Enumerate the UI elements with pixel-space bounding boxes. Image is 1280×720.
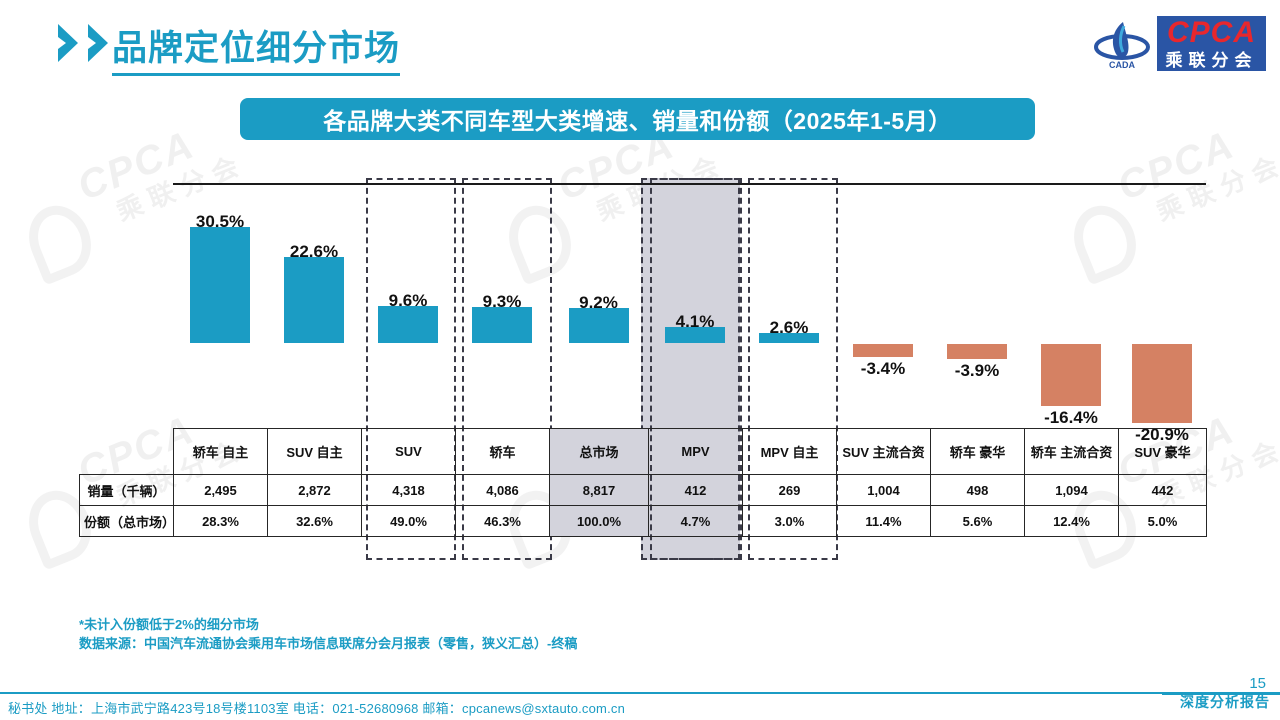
bar-negative[interactable]	[853, 344, 913, 357]
bar-slot: -16.4%	[1024, 160, 1118, 430]
bar-positive[interactable]	[284, 257, 344, 343]
footnote-line-1: *未计入份额低于2%的细分市场	[79, 615, 577, 634]
table-cell: 4.7%	[649, 506, 743, 537]
table-cell: 1,004	[837, 475, 931, 506]
table-cell: 442	[1119, 475, 1207, 506]
bar-slot: 9.2%	[549, 160, 648, 430]
chevron-right-icon	[86, 22, 114, 64]
bar-slot: 30.5%	[173, 160, 267, 430]
table-cell: 1,094	[1025, 475, 1119, 506]
bar-slot: 22.6%	[267, 160, 361, 430]
bar-positive[interactable]	[569, 308, 629, 343]
table-cell: 4,086	[456, 475, 550, 506]
table-cell: 5.0%	[1119, 506, 1207, 537]
table-header-row: 轿车 自主 SUV 自主 SUV 轿车 总市场 MPV MPV 自主 SUV 主…	[80, 429, 1207, 475]
bar-value-label: 22.6%	[290, 242, 338, 262]
table-row: 份额（总市场） 28.3% 32.6% 49.0% 46.3% 100.0% 4…	[80, 506, 1207, 537]
footnotes: *未计入份额低于2%的细分市场 数据来源：中国汽车流通协会乘用车市场信息联席分会…	[79, 615, 577, 653]
table-cell: 3.0%	[743, 506, 837, 537]
cpca-brand-text: CPCA	[1157, 16, 1266, 50]
bar-slot: 9.6%	[361, 160, 455, 430]
footer-contact-info: 秘书处 地址：上海市武宁路423号18号楼1103室 电话：021-526809…	[8, 698, 625, 717]
zero-axis-line	[173, 183, 1206, 185]
table-col-header: 轿车 主流合资	[1025, 429, 1119, 475]
double-chevron-right-icon	[56, 22, 114, 64]
bar-negative[interactable]	[1041, 344, 1101, 406]
chart-title-banner: 各品牌大类不同车型大类增速、销量和份额（2025年1-5月）	[240, 98, 1035, 140]
table-col-header: MPV	[649, 429, 743, 475]
table-cell: 498	[931, 475, 1025, 506]
report-label: 深度分析报告	[1180, 692, 1270, 712]
bar-slot: -3.9%	[930, 160, 1024, 430]
table-col-header: 轿车	[456, 429, 550, 475]
table-col-header: 轿车 豪华	[931, 429, 1025, 475]
table-col-header: 轿车 自主	[174, 429, 268, 475]
table-row-label: 销量（千辆）	[80, 475, 174, 506]
bar-slot: 9.3%	[455, 160, 549, 430]
bar-slot: -20.9%	[1118, 160, 1206, 430]
cpca-logo-text: CPCA 乘联分会	[1157, 16, 1266, 71]
bar-chart: 30.5% 22.6% 9.6% 9.3% 9.2%	[0, 160, 1280, 430]
table-cell: 49.0%	[362, 506, 456, 537]
table-cell: 46.3%	[456, 506, 550, 537]
chevron-right-icon	[56, 22, 84, 64]
table-row-label: 份额（总市场）	[80, 506, 174, 537]
table-cell: 100.0%	[550, 506, 649, 537]
table-cell: 11.4%	[837, 506, 931, 537]
footer-report-label-group: 深度分析报告	[1180, 692, 1270, 712]
table-cell: 32.6%	[268, 506, 362, 537]
bar-value-label: -16.4%	[1044, 408, 1098, 428]
cpca-brand-subtext: 乘联分会	[1157, 50, 1266, 71]
table-corner-cell	[80, 429, 174, 475]
table-cell: 2,495	[174, 475, 268, 506]
table-col-header: MPV 自主	[743, 429, 837, 475]
bar-positive[interactable]	[378, 306, 438, 343]
page-number: 15	[1249, 675, 1266, 692]
table-col-header: SUV 豪华	[1119, 429, 1207, 475]
page-title: 品牌定位细分市场	[112, 20, 400, 76]
bar-positive[interactable]	[190, 227, 250, 343]
bar-value-label: -3.9%	[955, 361, 999, 381]
slide-root: CPCA 乘联分会 CPCA 乘联分会 CPCA 乘联分会 CPCA 乘联分会 …	[0, 0, 1280, 720]
bar-positive[interactable]	[472, 307, 532, 343]
table-col-header: SUV 自主	[268, 429, 362, 475]
bar-value-label: 9.6%	[389, 291, 428, 311]
data-table: 轿车 自主 SUV 自主 SUV 轿车 总市场 MPV MPV 自主 SUV 主…	[79, 428, 1207, 537]
table-cell: 5.6%	[931, 506, 1025, 537]
bar-slot: -3.4%	[836, 160, 930, 430]
bar-slot: 2.6%	[742, 160, 836, 430]
footer-divider	[0, 692, 1280, 694]
bar-slot: 4.1%	[648, 160, 742, 430]
bar-series: 30.5% 22.6% 9.6% 9.3% 9.2%	[173, 160, 1206, 430]
table-cell: 4,318	[362, 475, 456, 506]
cpca-logo: CADA CPCA 乘联分会	[1093, 14, 1266, 72]
table-cell: 412	[649, 475, 743, 506]
bar-value-label: -3.4%	[861, 359, 905, 379]
svg-text:CADA: CADA	[1109, 60, 1135, 70]
table-cell: 28.3%	[174, 506, 268, 537]
footnote-line-2: 数据来源：中国汽车流通协会乘用车市场信息联席分会月报表（零售，狭义汇总）-终稿	[79, 634, 577, 653]
table-col-header: SUV	[362, 429, 456, 475]
table-cell: 8,817	[550, 475, 649, 506]
table-cell: 12.4%	[1025, 506, 1119, 537]
table-col-header: 总市场	[550, 429, 649, 475]
bar-value-label: 4.1%	[676, 312, 715, 332]
footer-accent-bar	[1162, 692, 1280, 695]
table-cell: 2,872	[268, 475, 362, 506]
table-row: 销量（千辆） 2,495 2,872 4,318 4,086 8,817 412…	[80, 475, 1207, 506]
bar-negative[interactable]	[1132, 344, 1192, 423]
slide-header: 品牌定位细分市场 CADA CPCA 乘联分会	[0, 0, 1280, 88]
bar-value-label: 2.6%	[770, 318, 809, 338]
bar-value-label: 9.2%	[579, 293, 618, 313]
table-col-header: SUV 主流合资	[837, 429, 931, 475]
cpca-bird-logo-icon: CADA	[1093, 14, 1151, 72]
bar-negative[interactable]	[947, 344, 1007, 359]
bar-value-label: 9.3%	[483, 292, 522, 312]
table-cell: 269	[743, 475, 837, 506]
bar-value-label: 30.5%	[196, 212, 244, 232]
